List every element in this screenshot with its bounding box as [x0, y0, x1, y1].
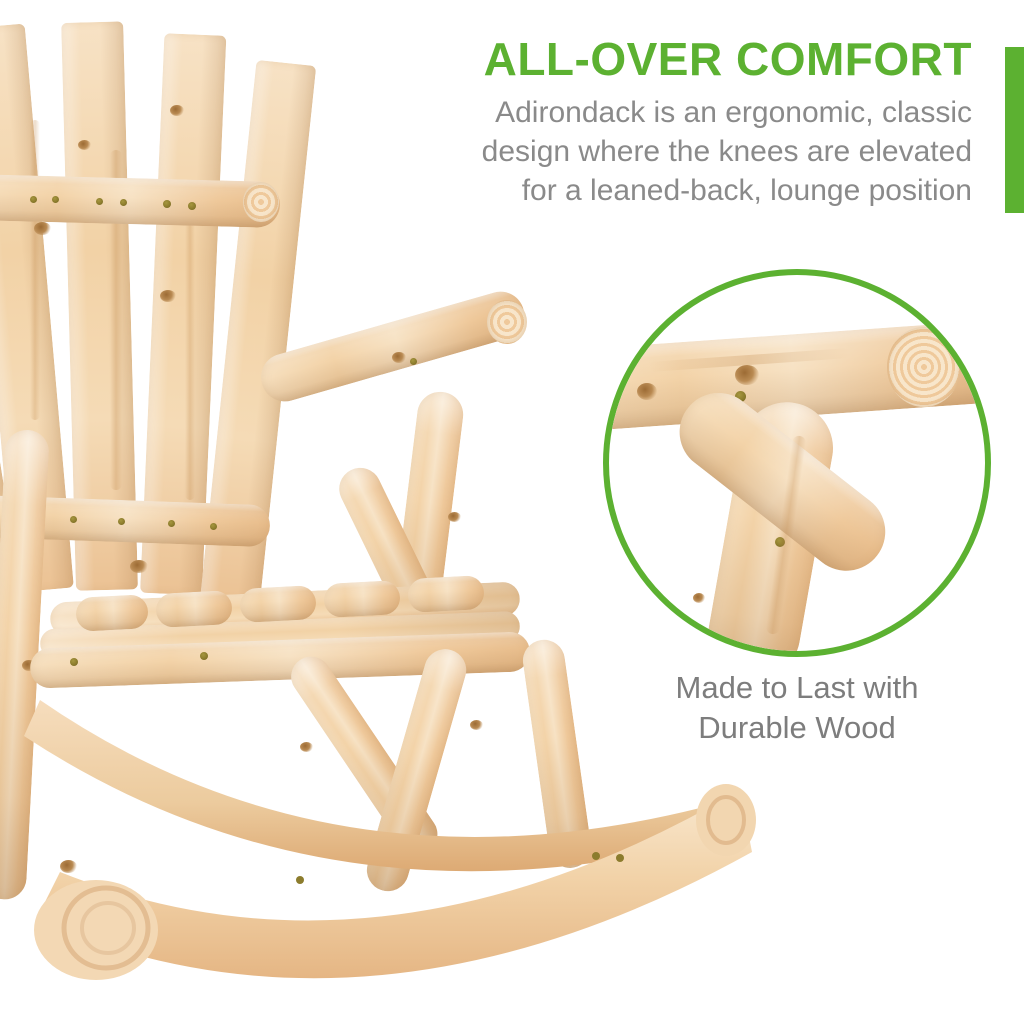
body-copy-line: design where the knees are elevated	[360, 132, 972, 171]
screw-head	[70, 516, 77, 523]
wood-knot	[470, 720, 483, 730]
back-crossbar-log	[0, 174, 281, 228]
wood-knot	[78, 140, 91, 150]
callout-zoom-content	[609, 275, 985, 651]
body-copy: Adirondack is an ergonomic, classic desi…	[360, 93, 972, 210]
armrest-end-grain	[487, 300, 527, 344]
rocker-tip-end-grain-ring	[82, 903, 134, 953]
body-copy-line: for a leaned-back, lounge position	[360, 171, 972, 210]
callout-caption-line: Durable Wood	[600, 708, 994, 748]
seat-scallop	[75, 594, 149, 632]
armrest-log	[255, 286, 530, 407]
green-accent-bar	[1005, 47, 1024, 213]
callout-caption: Made to Last with Durable Wood	[600, 668, 994, 747]
wood-knot	[60, 860, 77, 873]
seat-scallop	[155, 590, 233, 628]
rocker-rear-tip-ring	[708, 797, 744, 843]
rear-leg	[520, 637, 594, 871]
screw-head	[118, 518, 125, 525]
screw-head	[52, 196, 59, 203]
screw-head	[410, 358, 417, 365]
screw-head	[616, 854, 624, 862]
wood-knot	[392, 352, 406, 363]
screw-head	[200, 652, 208, 660]
log-end-grain	[243, 182, 279, 222]
copy-block: ALL-OVER COMFORT Adirondack is an ergono…	[360, 36, 972, 210]
screw-head	[188, 202, 196, 210]
screw-head	[163, 200, 171, 208]
screw-head	[210, 523, 217, 530]
body-copy-line: Adirondack is an ergonomic, classic	[360, 93, 972, 132]
product-feature-image: ALL-OVER COMFORT Adirondack is an ergono…	[0, 0, 1024, 1024]
wood-knot	[130, 560, 148, 573]
wood-grain	[30, 120, 40, 420]
wood-knot	[34, 222, 51, 235]
wood-knot	[170, 105, 184, 116]
wood-grain	[185, 180, 195, 500]
wood-knot	[160, 290, 176, 302]
seat-scallop	[323, 580, 401, 618]
callout-armrest-end-grain	[887, 327, 961, 407]
screw-head	[70, 658, 78, 666]
callout-caption-line: Made to Last with	[600, 668, 994, 708]
seat-scallop	[407, 575, 485, 613]
seat-scallop	[239, 585, 317, 623]
wood-knot	[637, 383, 657, 400]
screw-head	[592, 852, 600, 860]
callout-circle	[603, 269, 991, 657]
wood-knot	[735, 365, 759, 385]
screw-head	[296, 876, 304, 884]
wood-knot	[300, 742, 313, 752]
page-title: ALL-OVER COMFORT	[360, 36, 972, 83]
rocker-tip-end-grain	[34, 880, 158, 980]
rocker-rear-tip-end-grain	[696, 784, 756, 856]
screw-head	[30, 196, 37, 203]
wood-knot	[448, 512, 461, 522]
wood-knot	[693, 593, 705, 603]
screw-head	[120, 199, 127, 206]
screw-head	[168, 520, 175, 527]
screw-head	[96, 198, 103, 205]
rocker-tip-end-grain-ring	[64, 888, 148, 968]
